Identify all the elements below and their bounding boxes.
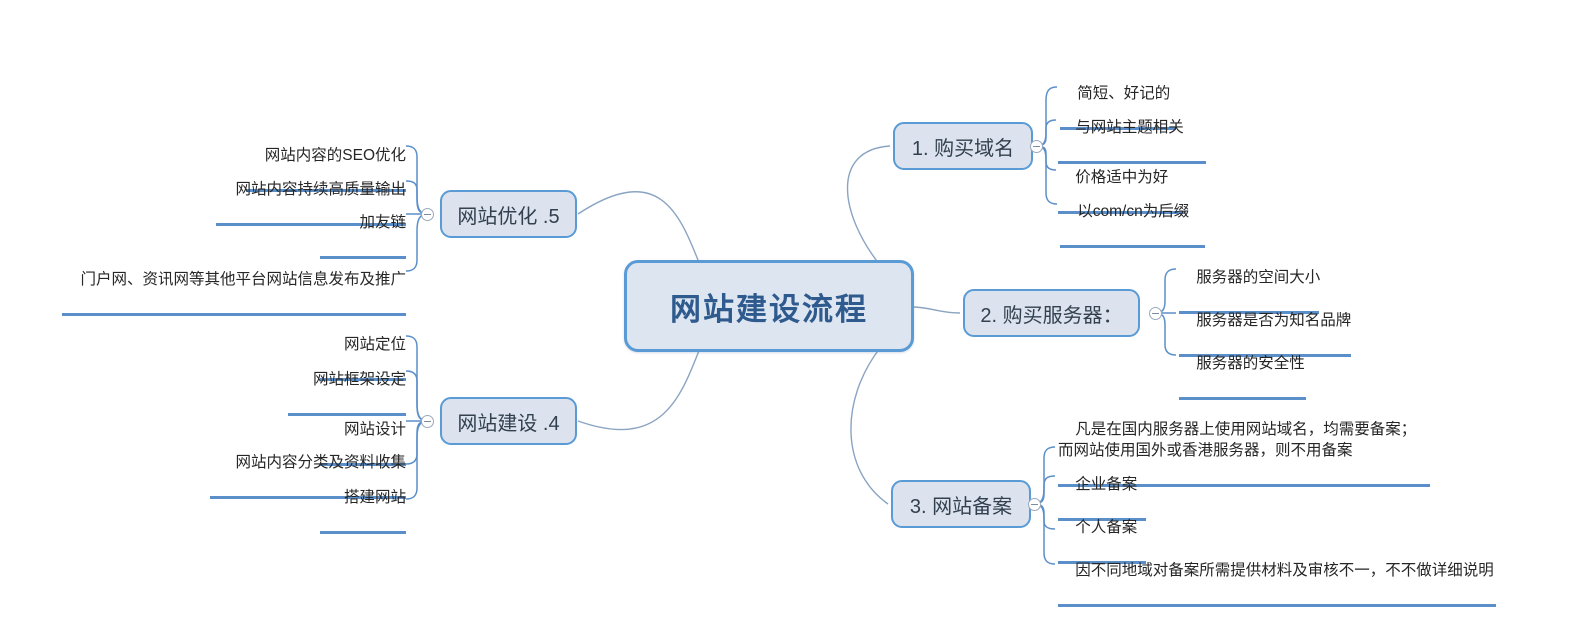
minus-circle-icon-branch-3[interactable] [1028, 498, 1041, 511]
leaf-label: 门户网、资讯网等其他平台网站信息发布及推广 [80, 271, 406, 288]
branch-node-2-label: 2. 购买服务器： [980, 299, 1122, 328]
branch-node-5-label: 网站优化 .5 [457, 200, 559, 229]
branch-node-1-label: 1. 购买域名 [912, 132, 1014, 161]
leaf-label: 网站框架设定 [313, 371, 406, 388]
leaf-label: 服务器是否为知名品牌 [1196, 312, 1351, 329]
branch-node-5[interactable]: 网站优化 .5 [440, 190, 577, 238]
minus-circle-icon-branch-4[interactable] [421, 415, 434, 428]
leaf-item[interactable]: 以com/cn为后缀 [1060, 180, 1205, 248]
minus-circle-icon-branch-2[interactable] [1149, 307, 1162, 320]
leaf-label: 加友链 [359, 214, 406, 231]
minus-circle-icon-branch-5[interactable] [421, 208, 434, 221]
minus-circle-icon-branch-1[interactable] [1030, 140, 1043, 153]
leaf-label: 与网站主题相关 [1075, 119, 1184, 136]
root-node-label: 网站建设流程 [670, 284, 868, 329]
branch-node-2[interactable]: 2. 购买服务器： [963, 289, 1140, 337]
leaf-label: 服务器的空间大小 [1196, 269, 1320, 286]
branch-node-4[interactable]: 网站建设 .4 [440, 397, 577, 445]
branch-node-1[interactable]: 1. 购买域名 [893, 122, 1033, 170]
root-node[interactable]: 网站建设流程 [624, 260, 914, 352]
leaf-item[interactable]: 因不同地域对备案所需提供材料及审核不一，不不做详细说明 [1058, 539, 1496, 607]
leaf-label: 搭建网站 [344, 489, 406, 506]
leaf-label: 企业备案 [1075, 476, 1137, 493]
mindmap-canvas: 网站建设流程 1. 购买域名 简短、好记的 与网站主题相关 价格适中为好 以co… [0, 0, 1580, 631]
leaf-item[interactable]: 门户网、资讯网等其他平台网站信息发布及推广 [62, 248, 406, 316]
leaf-label: 服务器的安全性 [1196, 355, 1305, 372]
branch-node-3[interactable]: 3. 网站备案 [891, 480, 1031, 528]
leaf-item[interactable]: 服务器的安全性 [1179, 332, 1306, 400]
leaf-item[interactable]: 搭建网站 [320, 466, 406, 534]
branch-node-3-label: 3. 网站备案 [910, 490, 1012, 519]
branch-node-4-label: 网站建设 .4 [457, 407, 559, 436]
leaf-label: 因不同地域对备案所需提供材料及审核不一，不不做详细说明 [1075, 562, 1494, 579]
leaf-label: 个人备案 [1075, 519, 1137, 536]
leaf-label: 以com/cn为后缀 [1077, 203, 1189, 220]
